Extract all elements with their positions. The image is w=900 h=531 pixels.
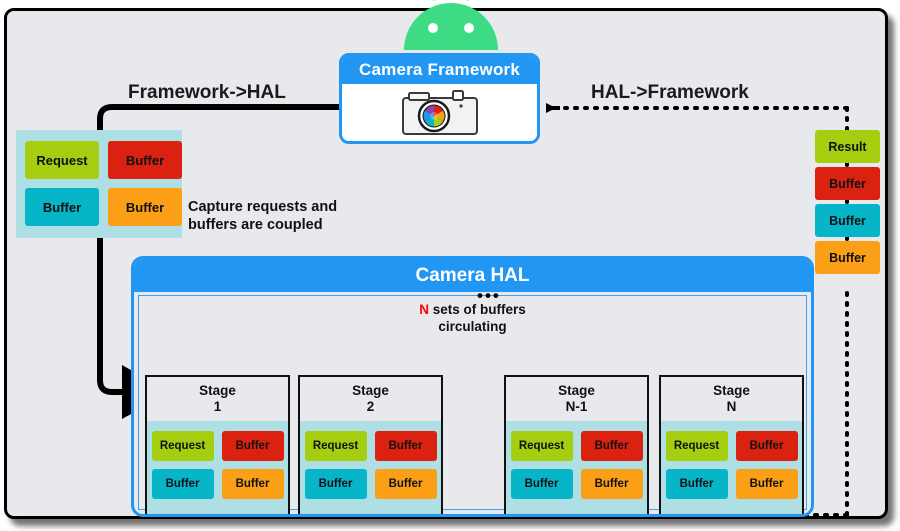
chip-request: Request xyxy=(511,431,573,461)
n-sets-note: N sets of buffers circulating xyxy=(139,302,806,336)
stage-title-word: Stage xyxy=(199,383,236,399)
stage-title-number: 1 xyxy=(214,399,222,415)
camera-hal-card[interactable]: Camera HAL N sets of buffers circulating… xyxy=(131,256,814,517)
chip-buffer: Buffer xyxy=(25,188,99,226)
chip-request: Request xyxy=(666,431,728,461)
n-sets-note-line-1: N sets of buffers xyxy=(139,302,806,319)
chip-buffer: Buffer xyxy=(815,241,880,274)
stage-buffer-band: Request Buffer Buffer Buffer xyxy=(661,421,802,517)
chip-buffer: Buffer xyxy=(736,469,798,499)
chip-buffer: Buffer xyxy=(152,469,214,499)
android-robot-icon xyxy=(398,0,504,54)
chip-buffer: Buffer xyxy=(108,141,182,179)
chip-buffer: Buffer xyxy=(581,431,643,461)
coupled-request-buffer-group: Request Buffer Buffer Buffer xyxy=(16,130,182,238)
framework-to-hal-label: Framework->HAL xyxy=(128,82,286,104)
stage-title: Stage N xyxy=(661,377,802,421)
stage-box[interactable]: Stage 1 Request Buffer Buffer Buffer xyxy=(145,375,290,517)
chip-buffer: Buffer xyxy=(305,469,367,499)
n-sets-note-line-2: circulating xyxy=(139,319,806,336)
camera-framework-title: Camera Framework xyxy=(342,56,537,84)
stage-title: Stage N-1 xyxy=(506,377,647,421)
chip-result: Result xyxy=(815,130,880,163)
stage-box[interactable]: Stage 2 Request Buffer Buffer Buffer xyxy=(298,375,443,517)
stage-title: Stage 2 xyxy=(300,377,441,421)
camera-hal-title: Camera HAL xyxy=(134,259,811,292)
chip-buffer: Buffer xyxy=(222,431,284,461)
stage-title: Stage 1 xyxy=(147,377,288,421)
n-sets-note-accent: N xyxy=(419,302,429,317)
stage-title-word: Stage xyxy=(352,383,389,399)
stage-title-word: Stage xyxy=(558,383,595,399)
chip-buffer: Buffer xyxy=(222,469,284,499)
chip-request: Request xyxy=(305,431,367,461)
stage-box[interactable]: Stage N-1 Request Buffer Buffer Buffer xyxy=(504,375,649,517)
coupled-group-caption: Capture requests and buffers are coupled xyxy=(188,198,337,234)
stage-buffer-band: Request Buffer Buffer Buffer xyxy=(147,421,288,517)
stage-title-word: Stage xyxy=(713,383,750,399)
chip-buffer: Buffer xyxy=(375,469,437,499)
stage-title-number: N xyxy=(727,399,737,415)
camera-framework-body xyxy=(342,84,537,141)
camera-hal-inner-panel: N sets of buffers circulating Stage 1 Re… xyxy=(138,295,807,510)
caption-line-2: buffers are coupled xyxy=(188,216,337,234)
caption-line-1: Capture requests and xyxy=(188,198,337,216)
stage-buffer-band: Request Buffer Buffer Buffer xyxy=(300,421,441,517)
chip-buffer: Buffer xyxy=(736,431,798,461)
stage-title-number: 2 xyxy=(367,399,375,415)
chip-request: Request xyxy=(152,431,214,461)
diagram-canvas: Camera Framework Fra xyxy=(0,0,900,531)
stage-title-number: N-1 xyxy=(566,399,588,415)
stage-box[interactable]: Stage N Request Buffer Buffer Buffer xyxy=(659,375,804,517)
result-buffer-column: Result Buffer Buffer Buffer xyxy=(815,130,880,278)
chip-buffer: Buffer xyxy=(581,469,643,499)
chip-request: Request xyxy=(25,141,99,179)
hal-to-framework-label: HAL->Framework xyxy=(591,82,749,104)
camera-icon xyxy=(401,90,479,136)
stage-flow-ellipsis: ••• xyxy=(477,286,501,306)
chip-buffer: Buffer xyxy=(666,469,728,499)
chip-buffer: Buffer xyxy=(815,204,880,237)
chip-buffer: Buffer xyxy=(815,167,880,200)
camera-framework-card[interactable]: Camera Framework xyxy=(339,53,540,144)
stage-buffer-band: Request Buffer Buffer Buffer xyxy=(506,421,647,517)
chip-buffer: Buffer xyxy=(375,431,437,461)
chip-buffer: Buffer xyxy=(511,469,573,499)
chip-buffer: Buffer xyxy=(108,188,182,226)
